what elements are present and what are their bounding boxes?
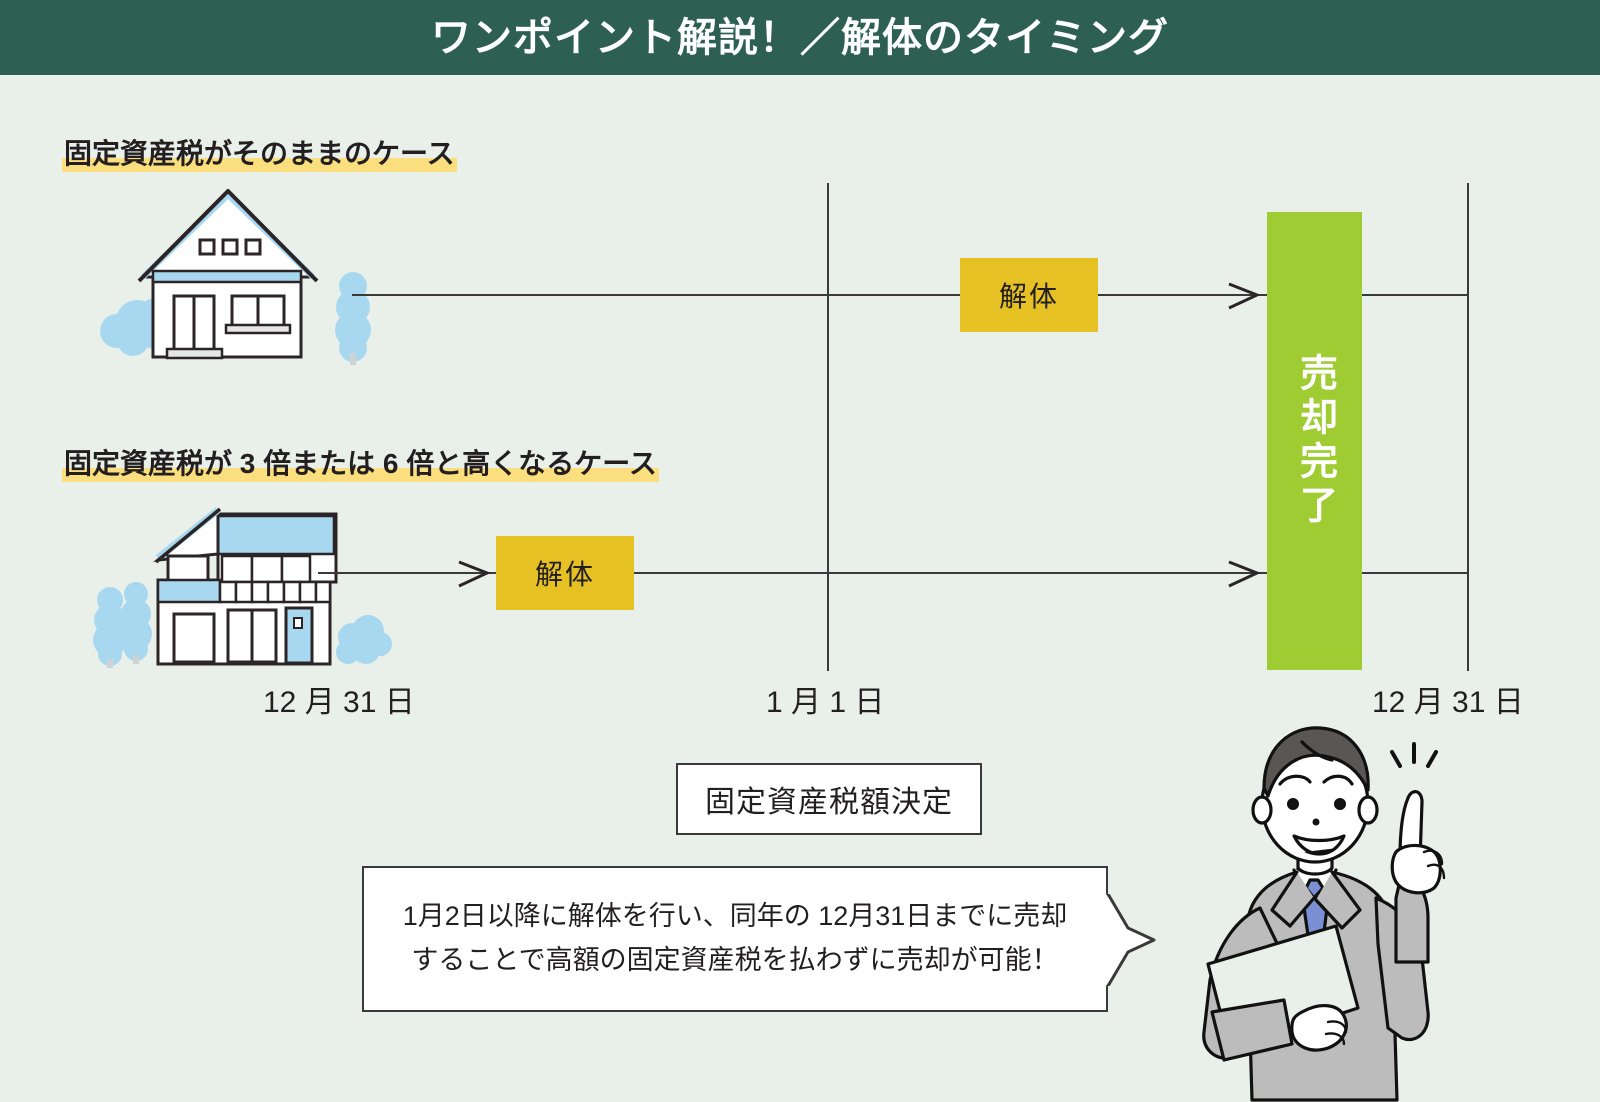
callout-text: 1月2日以降に解体を行い、同年の 12月31日までに売却 することで高額の固定資… [362,866,1108,1012]
timeline-marker-jan1 [827,183,829,671]
callout-line-1: 1月2日以降に解体を行い、同年の 12月31日までに売却 [403,902,1068,932]
case-2-heading: 固定資産税が 3 倍または 6 倍と高くなるケース [62,448,659,482]
demolition-box-case-1: 解体 [960,258,1098,332]
date-label-dec31-start: 12 月 31 日 [263,688,415,718]
date-label-jan1: 1 月 1 日 [766,688,884,718]
case-1-heading: 固定資産税がそのままのケース [62,138,457,172]
arrow-head-icon [455,558,485,588]
businessman-illustration [1152,712,1470,1102]
one-story-house-illustration [95,183,395,375]
timeline-marker-dec31 [1467,183,1469,671]
header-bar: ワンポイント解説！／解体のタイミング [0,0,1600,75]
page-title: ワンポイント解説！／解体のタイミング [431,18,1169,58]
infographic-canvas: ワンポイント解説！／解体のタイミング 固定資産税がそのままのケース 固定資産税が… [0,0,1600,1102]
tax-decision-box: 固定資産税額決定 [676,763,982,835]
demolition-box-case-2: 解体 [496,536,634,610]
callout-speech-bubble: 1月2日以降に解体を行い、同年の 12月31日までに売却 することで高額の固定資… [362,866,1112,1016]
arrow-head-icon [1225,280,1255,310]
callout-line-2: することで高額の固定資産税を払わずに売却が可能！ [411,946,1058,976]
sale-complete-label: 売却完了 [1296,353,1334,529]
arrow-head-icon [1225,558,1255,588]
two-story-house-illustration [80,492,392,670]
sale-complete-bar: 売却完了 [1267,212,1362,670]
